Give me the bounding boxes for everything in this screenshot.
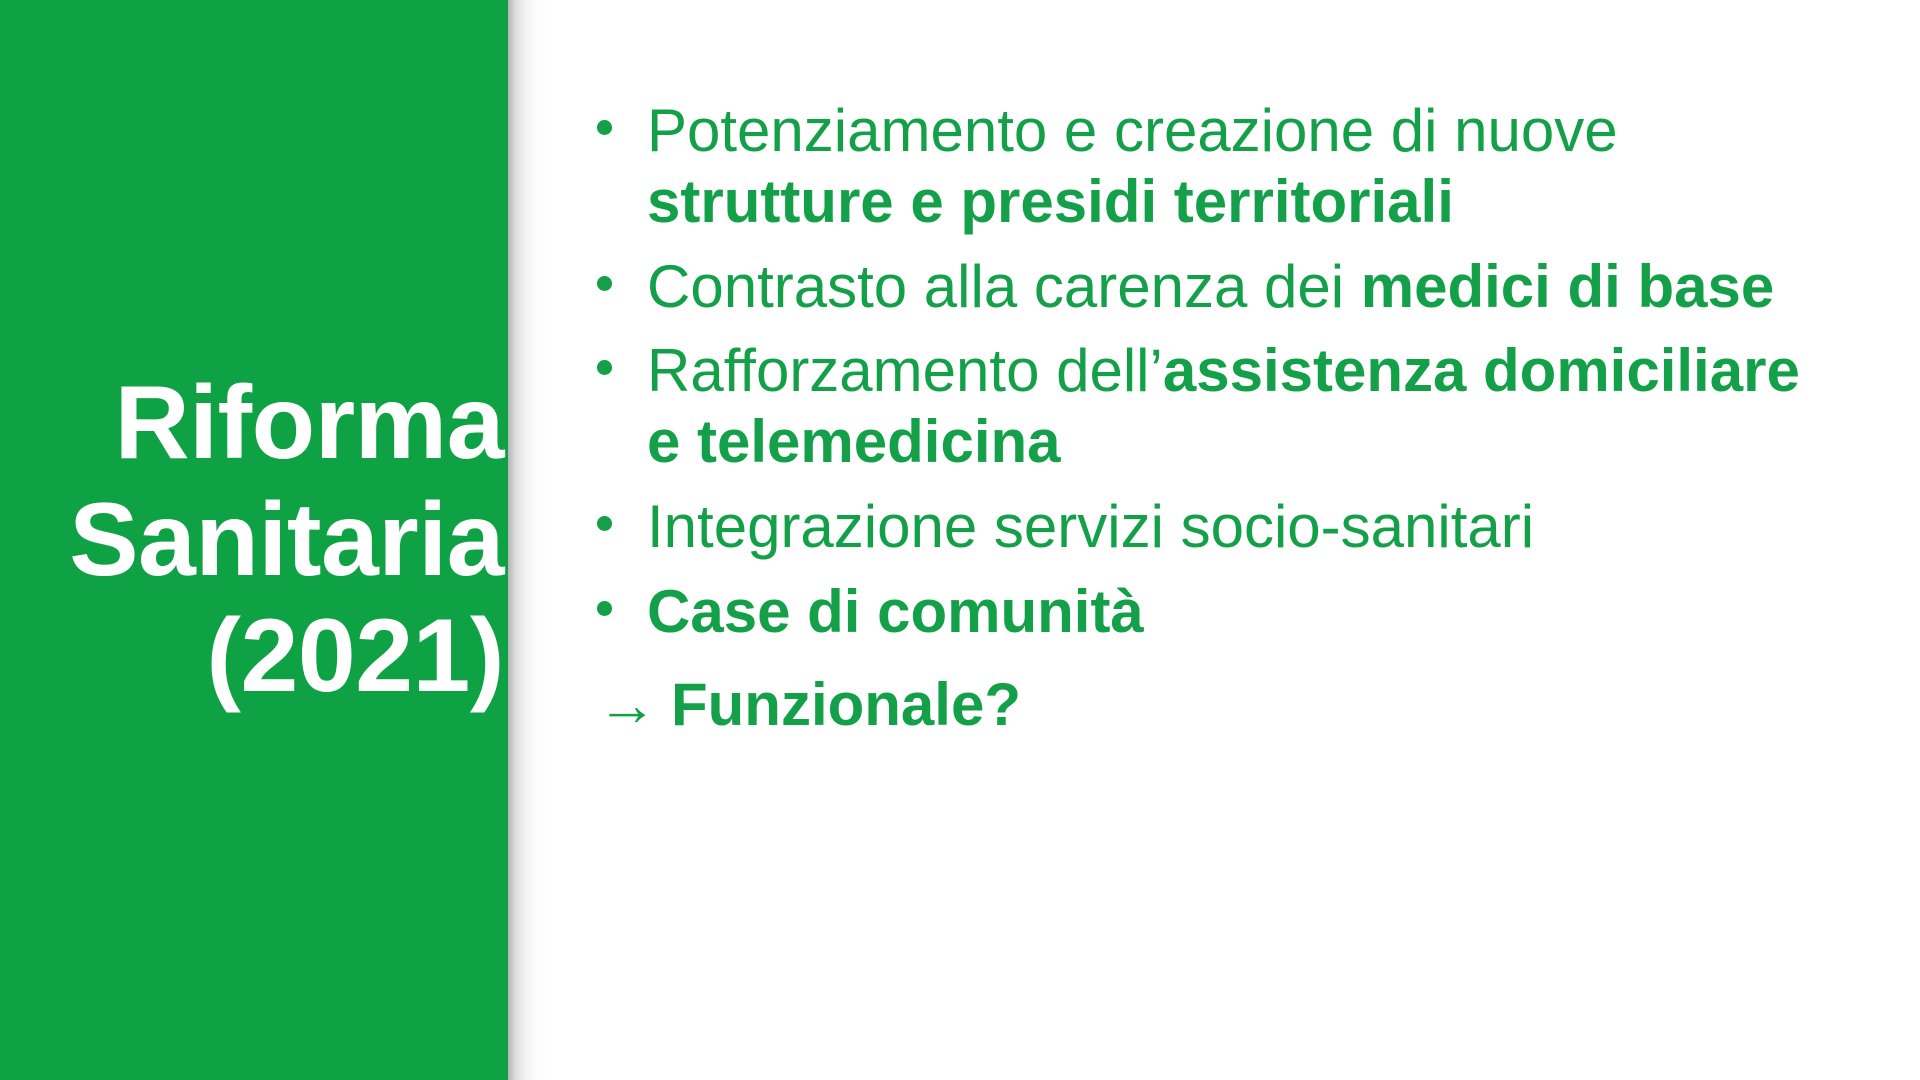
- page-title: Riforma Sanitaria (2021): [69, 365, 508, 714]
- conclusion-line: →Funzionale?: [575, 670, 1920, 741]
- bullet-dot-icon: [597, 360, 612, 375]
- list-item: Integrazione servizi socio-sanitari: [575, 492, 1817, 563]
- arrow-right-icon: →: [597, 671, 657, 738]
- bullet-dot-icon: [597, 601, 612, 616]
- bullet-dot-icon: [597, 516, 612, 531]
- list-item: Case di comunità: [575, 577, 1817, 648]
- bullet-text-normal: Integrazione servizi socio-sanitari: [647, 493, 1534, 560]
- list-item: Contrasto alla carenza dei medici di bas…: [575, 252, 1817, 323]
- bullet-text-normal: Contrasto alla carenza dei: [647, 253, 1361, 320]
- bullet-text-bold: strutture e presidi territoriali: [647, 168, 1454, 235]
- bullet-text-bold: Case di comunità: [647, 578, 1144, 645]
- list-item: Potenziamento e creazione di nuove strut…: [575, 96, 1817, 238]
- slide: Riforma Sanitaria (2021) Potenziamento e…: [0, 0, 1920, 1080]
- conclusion-label: Funzionale?: [671, 671, 1021, 738]
- bullet-text-normal: Rafforzamento dell’: [647, 337, 1163, 404]
- page-title-line-1: Riforma: [69, 365, 504, 481]
- bullet-text-normal: Potenziamento e creazione di nuove: [647, 97, 1618, 164]
- page-title-line-2: Sanitaria: [69, 482, 504, 598]
- bullet-dot-icon: [597, 276, 612, 291]
- bullet-list: Potenziamento e creazione di nuove strut…: [575, 96, 1920, 648]
- title-panel: Riforma Sanitaria (2021): [0, 0, 508, 1080]
- bullet-text-bold: medici di base: [1361, 253, 1775, 320]
- page-title-line-3: (2021): [69, 598, 504, 714]
- panel-shadow: [508, 0, 550, 1080]
- list-item: Rafforzamento dell’assistenza domiciliar…: [575, 336, 1817, 478]
- bullet-dot-icon: [597, 120, 612, 135]
- content-column: Potenziamento e creazione di nuove strut…: [575, 0, 1920, 1080]
